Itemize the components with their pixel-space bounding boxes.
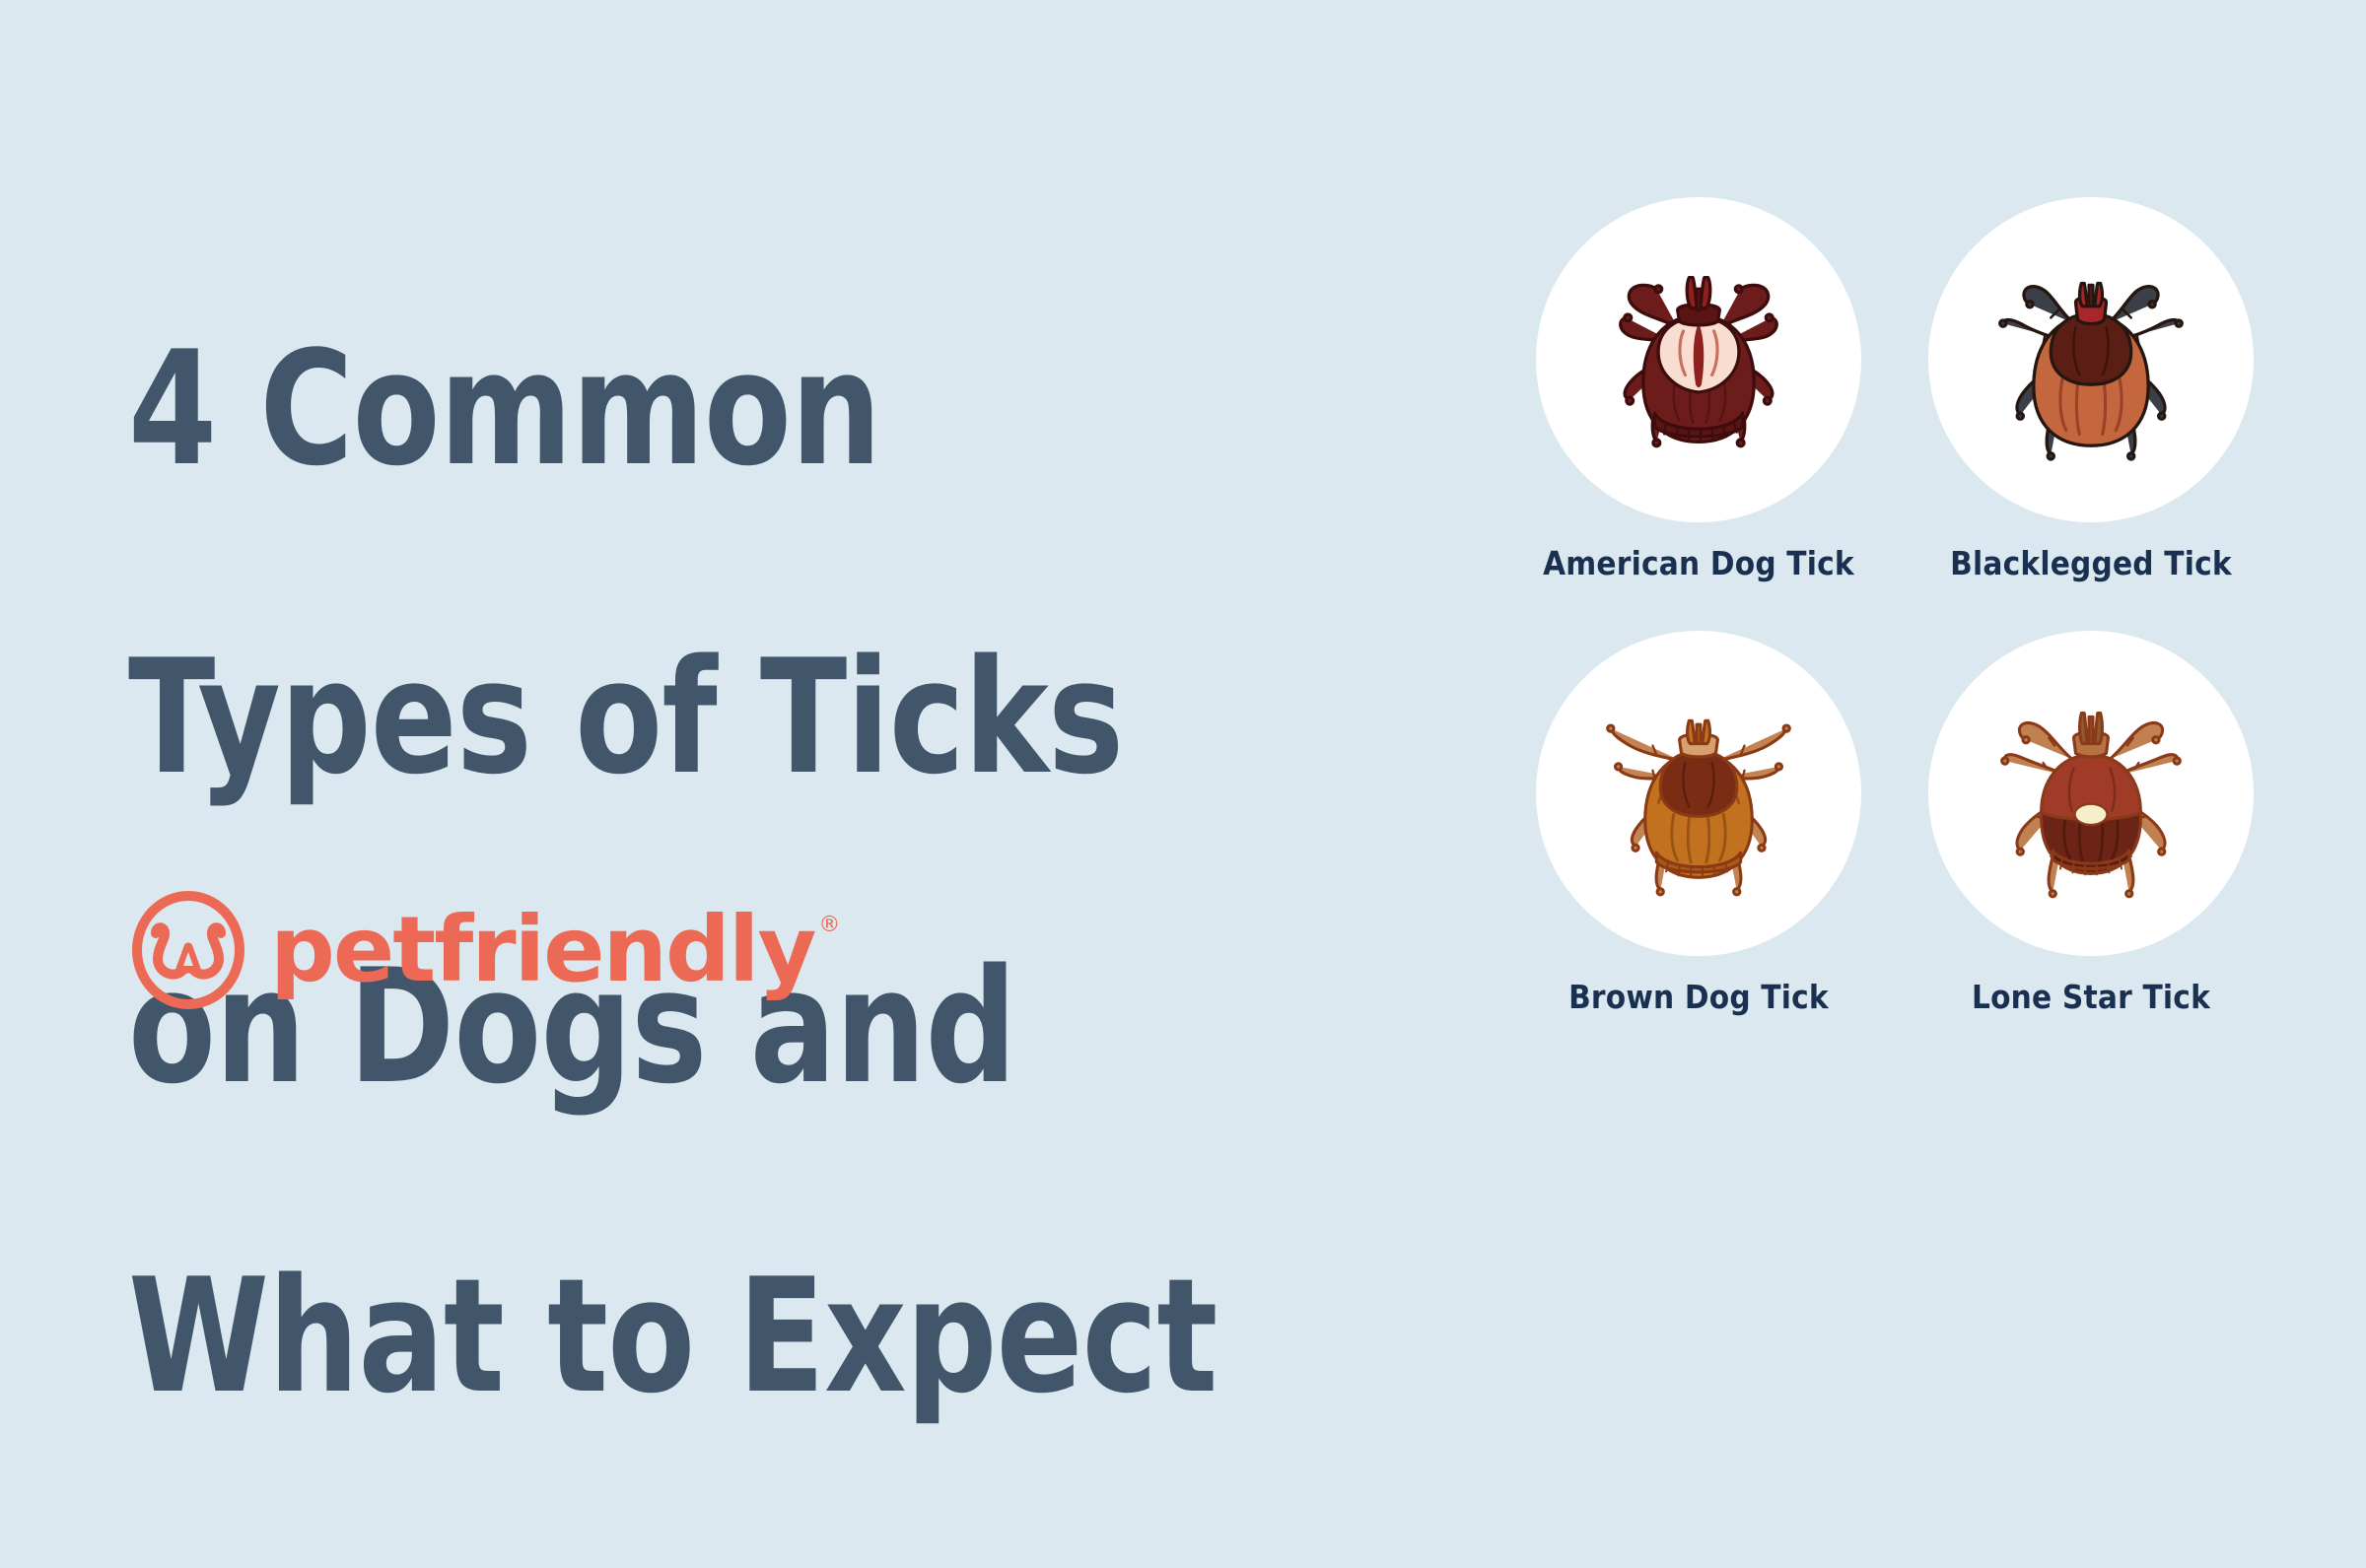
tick-image-circle [1928, 197, 2254, 522]
tick-image-circle [1928, 631, 2254, 956]
tick-card-lone-star-tick[interactable]: Lone Star Tick [1899, 631, 2283, 1064]
left-content-column: 4 Common Types of Ticks on Dogs and What… [128, 177, 1429, 1064]
tick-image-circle [1536, 631, 1861, 956]
tick-image-circle [1536, 197, 1861, 522]
tick-card-brown-dog-tick[interactable]: Brown Dog Tick [1506, 631, 1891, 1064]
poster-canvas: 4 Common Types of Ticks on Dogs and What… [0, 0, 2366, 1242]
tick-label: Lone Star Tick [1972, 978, 2210, 1016]
brown-dog-tick-icon [1574, 669, 1823, 918]
headline-line-1: 4 Common [128, 332, 1299, 487]
american-dog-tick-icon [1574, 236, 1823, 484]
headline-line-2: Types of Ticks [128, 641, 1299, 795]
headline-line-4: What to Expect [128, 1260, 1299, 1414]
petfriendly-logo[interactable]: petfriendly ® [128, 890, 840, 1010]
logo-wordmark-text: petfriendly [270, 905, 814, 995]
tick-label: American Dog Tick [1543, 544, 1854, 582]
lone-star-tick-icon [1967, 669, 2215, 918]
page-title: 4 Common Types of Ticks on Dogs and What… [128, 177, 1299, 1568]
tick-label: Brown Dog Tick [1568, 978, 1829, 1016]
registered-trademark-icon: ® [818, 915, 840, 936]
petfriendly-dog-face-oval-icon [128, 890, 248, 1010]
blacklegged-tick-icon [1967, 236, 2215, 484]
tick-card-american-dog-tick[interactable]: American Dog Tick [1506, 197, 1891, 631]
tick-label: Blacklegged Tick [1950, 544, 2232, 582]
petfriendly-wordmark: petfriendly ® [270, 905, 840, 995]
tick-card-blacklegged-tick[interactable]: Blacklegged Tick [1899, 197, 2283, 631]
tick-types-grid: American Dog Tick [1506, 197, 2283, 1064]
